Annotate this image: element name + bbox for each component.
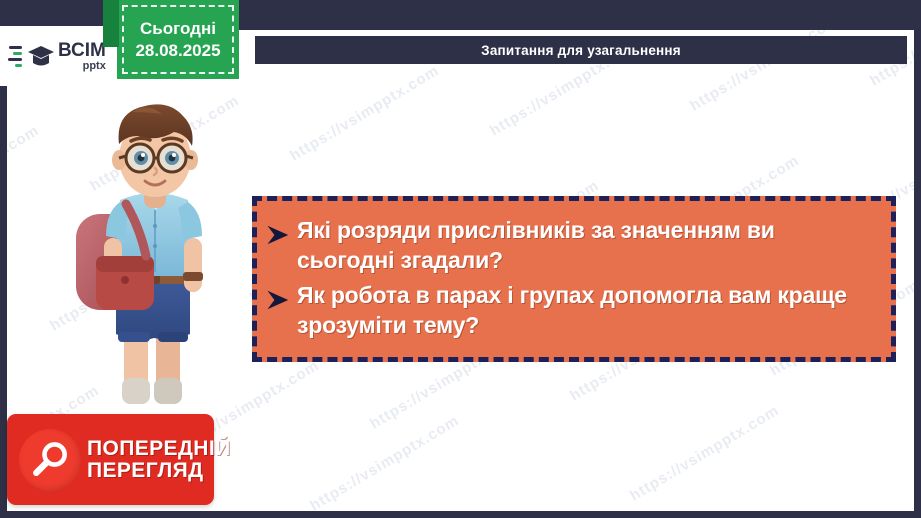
logo-sub: pptx — [58, 61, 106, 72]
preview-button-line2: ПЕРЕГЛЯД — [87, 460, 231, 482]
slide-canvas: https://vsimpptx.com https://vsimpptx.co… — [0, 0, 921, 518]
page-title: Запитання для узагальнення — [481, 43, 681, 58]
preview-button-line1: ПОПЕРЕДНІЙ — [87, 438, 231, 460]
logo-text: ВСІМ pptx — [58, 41, 106, 72]
header-bar: Запитання для узагальнення — [255, 36, 907, 64]
arrow-bullet-icon — [267, 225, 289, 245]
question-item: Які розряди прислівників за значенням ви… — [267, 215, 877, 276]
frame-bottom — [0, 511, 921, 518]
question-item: Як робота в парах і групах допомогла вам… — [267, 280, 877, 341]
magnifier-icon — [19, 429, 81, 491]
questions-box: Які розряди прислівників за значенням ви… — [252, 196, 896, 362]
preview-button[interactable]: ПОПЕРЕДНІЙ ПЕРЕГЛЯД — [7, 414, 214, 505]
preview-button-text: ПОПЕРЕДНІЙ ПЕРЕГЛЯД — [87, 438, 231, 482]
frame-right — [914, 0, 921, 518]
date-badge: Сьогодні 28.08.2025 — [117, 0, 239, 79]
date-badge-value: 28.08.2025 — [135, 40, 220, 61]
logo-brand: ВСІМ — [58, 41, 106, 60]
logo-mark — [8, 41, 56, 71]
brand-logo[interactable]: ВСІМ pptx — [0, 26, 120, 86]
question-text: Які розряди прислівників за значенням ви… — [297, 215, 877, 276]
schoolboy-illustration — [62, 96, 247, 416]
date-badge-label: Сьогодні — [140, 18, 216, 39]
speed-lines-icon — [8, 46, 22, 67]
arrow-bullet-icon — [267, 290, 289, 310]
graduation-cap-icon — [26, 41, 56, 71]
question-text: Як робота в парах і групах допомогла вам… — [297, 280, 877, 341]
